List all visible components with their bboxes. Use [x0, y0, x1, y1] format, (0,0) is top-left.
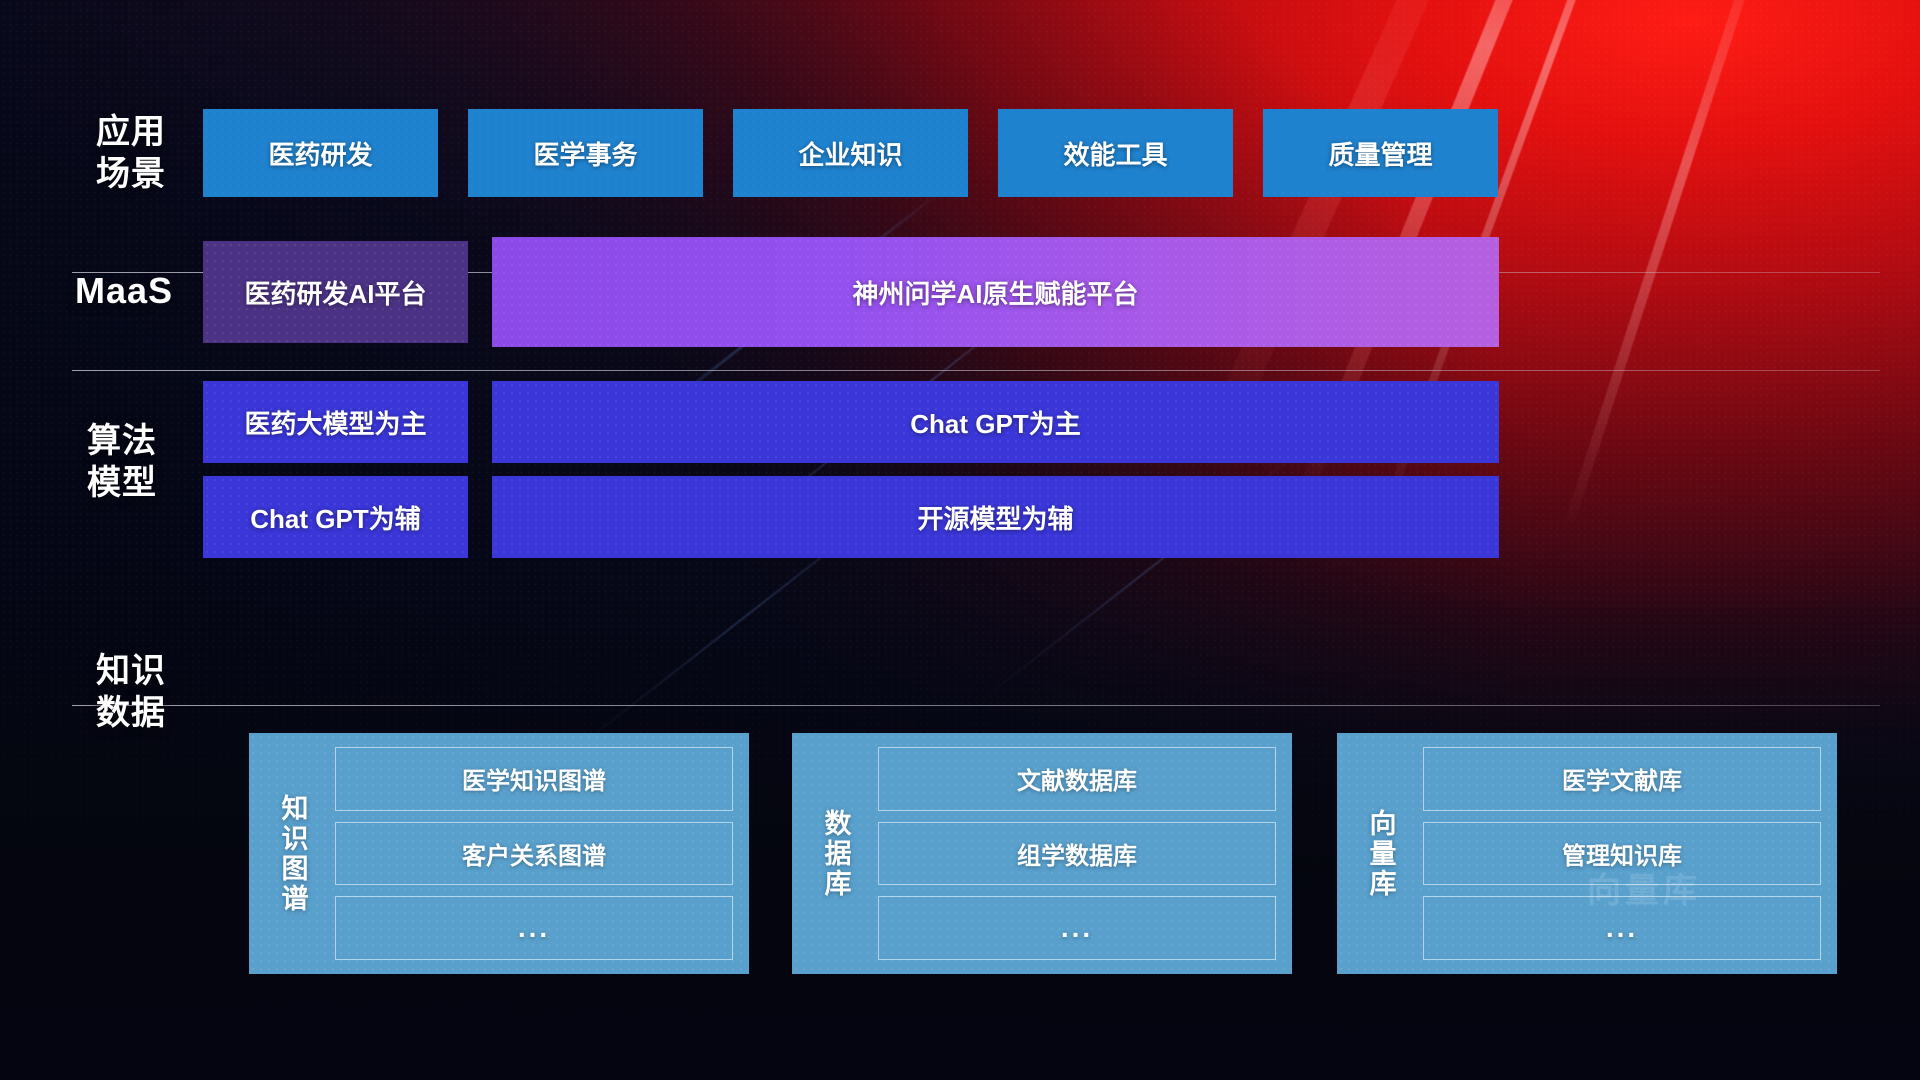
- knowledge-card-title: 数据库: [806, 747, 864, 960]
- app-box-medical-affairs[interactable]: 医学事务: [468, 109, 703, 197]
- knowledge-item-more[interactable]: ...: [335, 896, 733, 960]
- knowledge-item[interactable]: 医学文献库: [1423, 747, 1821, 811]
- knowledge-item[interactable]: 医学知识图谱: [335, 747, 733, 811]
- knowledge-card-knowledge-graph[interactable]: 知识图谱 医学知识图谱 客户关系图谱 ...: [249, 733, 749, 974]
- maas-box-medicine-ai-platform[interactable]: 医药研发AI平台: [203, 241, 468, 343]
- knowledge-item[interactable]: 客户关系图谱: [335, 822, 733, 886]
- app-box-efficiency-tools[interactable]: 效能工具: [998, 109, 1233, 197]
- knowledge-card-vector-store[interactable]: 向量库 向量库 医学文献库 管理知识库 ...: [1337, 733, 1837, 974]
- divider-maas-algorithm: [72, 370, 1880, 371]
- app-box-medicine-rnd[interactable]: 医药研发: [203, 109, 438, 197]
- knowledge-card-items: 医学知识图谱 客户关系图谱 ...: [335, 747, 733, 960]
- knowledge-item-more[interactable]: ...: [878, 896, 1276, 960]
- knowledge-card-items: 文献数据库 组学数据库 ...: [878, 747, 1276, 960]
- knowledge-item[interactable]: 管理知识库: [1423, 822, 1821, 886]
- knowledge-item[interactable]: 文献数据库: [878, 747, 1276, 811]
- knowledge-card-items: 医学文献库 管理知识库 ...: [1423, 747, 1821, 960]
- row-label-knowledge-data: 知识 数据: [96, 650, 216, 734]
- algo-box-medicine-llm-primary[interactable]: 医药大模型为主: [203, 381, 468, 463]
- divider-algorithm-knowledge: [72, 705, 1880, 706]
- knowledge-item[interactable]: 组学数据库: [878, 822, 1276, 886]
- row-label-application-scenarios: 应用 场景: [96, 111, 206, 195]
- architecture-diagram: 应用 场景 医药研发 医学事务 企业知识 效能工具 质量管理 MaaS 医药研发…: [0, 0, 1920, 1080]
- knowledge-card-title: 向量库: [1351, 747, 1409, 960]
- knowledge-card-database[interactable]: 数据库 文献数据库 组学数据库 ...: [792, 733, 1292, 974]
- algo-box-chatgpt-primary[interactable]: Chat GPT为主: [492, 381, 1499, 463]
- knowledge-item-more[interactable]: ...: [1423, 896, 1821, 960]
- algo-box-chatgpt-secondary[interactable]: Chat GPT为辅: [203, 476, 468, 558]
- row-label-algorithm-model: 算法 模型: [87, 420, 207, 504]
- algo-box-opensource-secondary[interactable]: 开源模型为辅: [492, 476, 1499, 558]
- knowledge-card-title: 知识图谱: [263, 747, 321, 960]
- maas-box-shenzhou-wenxue-platform[interactable]: 神州问学AI原生赋能平台: [492, 237, 1499, 347]
- app-box-enterprise-knowledge[interactable]: 企业知识: [733, 109, 968, 197]
- app-box-quality-management[interactable]: 质量管理: [1263, 109, 1498, 197]
